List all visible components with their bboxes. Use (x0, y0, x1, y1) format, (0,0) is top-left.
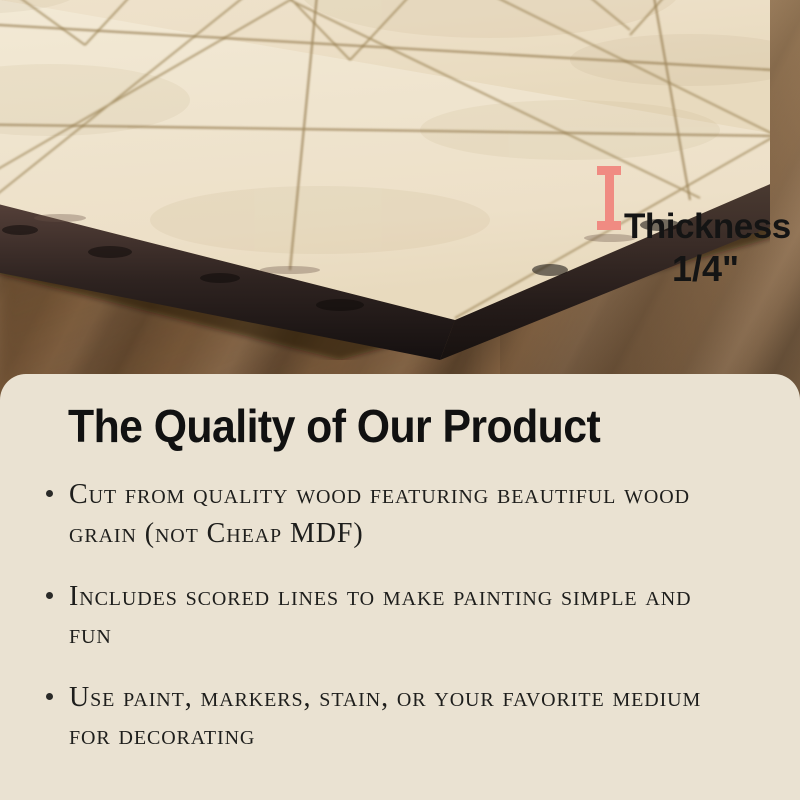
list-item: Cut from quality wood featuring beautifu… (46, 476, 756, 553)
list-item-label: Includes scored lines to make painting s… (69, 578, 741, 655)
list-item-label: Cut from quality wood featuring beautifu… (69, 476, 741, 553)
measure-cap-bottom (597, 221, 621, 230)
bullet-dot-icon (46, 693, 53, 700)
i-beam-measure-icon (597, 166, 621, 230)
page-title: The Quality of Our Product (68, 402, 708, 450)
list-item: Includes scored lines to make painting s… (46, 578, 756, 655)
quality-bullet-list: Cut from quality wood featuring beautifu… (46, 476, 756, 756)
quality-info-card: The Quality of Our Product Cut from qual… (0, 374, 800, 800)
bullet-dot-icon (46, 592, 53, 599)
product-infographic: Thickness 1/4" The Quality of Our Produc… (0, 0, 800, 800)
list-item: Use paint, markers, stain, or your favor… (46, 679, 756, 756)
wood-board-photo: Thickness 1/4" (0, 0, 800, 400)
thickness-label: Thickness (624, 209, 791, 244)
bullet-dot-icon (46, 490, 53, 497)
list-item-label: Use paint, markers, stain, or your favor… (69, 679, 741, 756)
plywood-board (0, 0, 770, 360)
thickness-value: 1/4" (624, 251, 787, 287)
